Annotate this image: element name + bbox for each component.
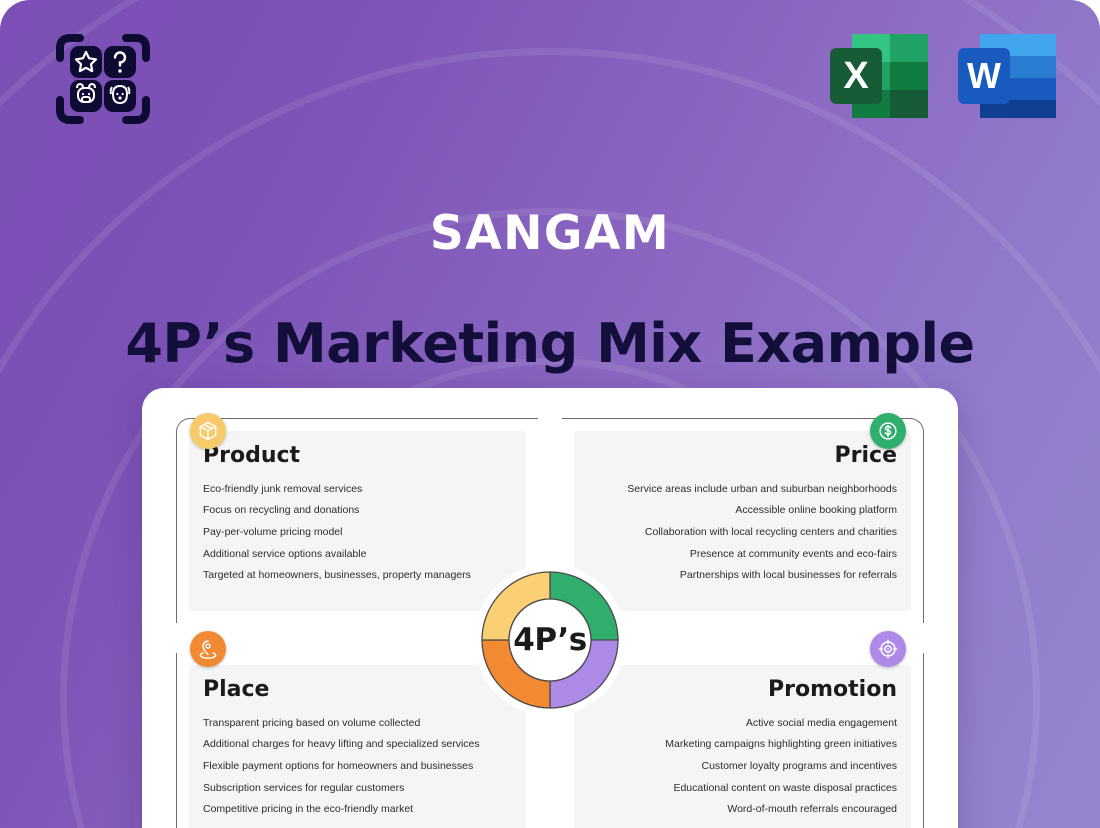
brand-logo[interactable] [52,28,154,130]
office-icons-group: X W [828,26,1056,126]
box-icon [197,420,219,442]
donut-chart: 4P’s [470,560,630,720]
quadrant-product-list: Eco-friendly junk removal services Focus… [203,478,512,586]
list-item: Competitive pricing in the eco-friendly … [203,799,512,821]
list-item: Service areas include urban and suburban… [588,478,897,500]
page-title: 4P’s Marketing Mix Example [0,312,1100,375]
list-item: Educational content on waste disposal pr… [588,777,897,799]
list-item: Targeted at homeowners, businesses, prop… [203,565,512,587]
list-item: Marketing campaigns highlighting green i… [588,734,897,756]
list-item: Collaboration with local recycling cente… [588,521,897,543]
quadrant-place-title: Place [203,677,512,702]
quadrant-product-badge[interactable] [190,413,226,449]
quadrant-price-list: Service areas include urban and suburban… [588,478,897,586]
quadrant-price-title: Price [588,443,897,468]
list-item: Subscription services for regular custom… [203,777,512,799]
quadrant-price-badge[interactable] [870,413,906,449]
quadrant-promotion-list: Active social media engagement Marketing… [588,712,897,820]
poster-canvas: X W SANGAM 4P’s Marketing Mix Example Pr… [0,0,1100,828]
donut-center-label: 4P’s [470,560,630,720]
brand-name: SANGAM [0,206,1100,261]
svg-text:W: W [967,55,1001,96]
list-item: Focus on recycling and donations [203,500,512,522]
quadrant-promotion-title: Promotion [588,677,897,702]
excel-icon[interactable]: X [828,26,928,126]
quadrant-promotion-badge[interactable] [870,631,906,667]
qr-pets-logo-icon [52,28,154,130]
list-item: Eco-friendly junk removal services [203,478,512,500]
list-item: Active social media engagement [588,712,897,734]
svg-text:X: X [843,55,869,97]
word-icon[interactable]: W [956,26,1056,126]
list-item: Additional service options available [203,543,512,565]
quadrant-product-title: Product [203,443,512,468]
list-item: Partnerships with local businesses for r… [588,565,897,587]
list-item: Word-of-mouth referrals encouraged [588,799,897,821]
dollar-coin-icon [877,420,899,442]
location-pin-icon [197,638,219,660]
list-item: Customer loyalty programs and incentives [588,755,897,777]
list-item: Accessible online booking platform [588,500,897,522]
list-item: Pay-per-volume pricing model [203,521,512,543]
target-icon [877,638,899,660]
list-item: Flexible payment options for homeowners … [203,755,512,777]
list-item: Presence at community events and eco-fai… [588,543,897,565]
quadrant-place-badge[interactable] [190,631,226,667]
list-item: Additional charges for heavy lifting and… [203,734,512,756]
quadrant-place-list: Transparent pricing based on volume coll… [203,712,512,820]
list-item: Transparent pricing based on volume coll… [203,712,512,734]
